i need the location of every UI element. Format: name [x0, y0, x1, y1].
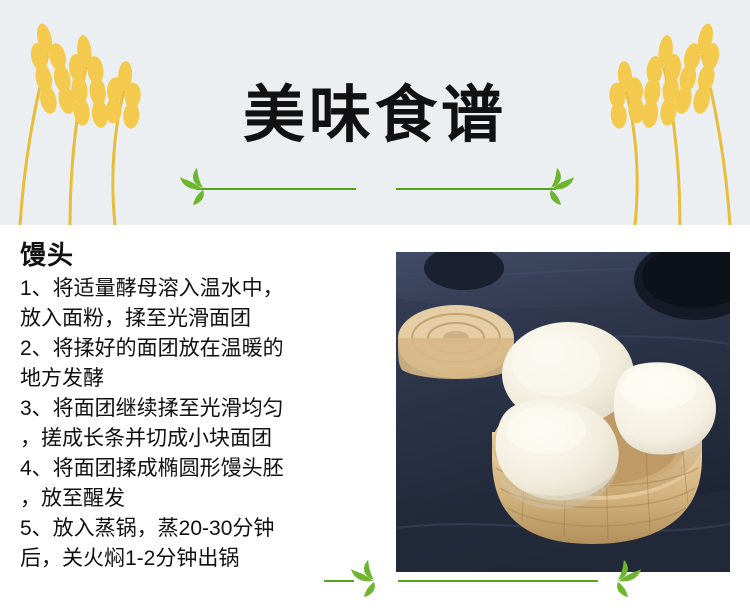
recipe-photo — [396, 252, 730, 572]
recipe-step: 4、将面团揉成椭圆形馒头胚 ，放至醒发 — [20, 454, 380, 514]
divider-top — [0, 168, 750, 208]
leaf-ornament-left — [178, 168, 228, 208]
leaf-ornament-bottom-left — [348, 560, 400, 600]
recipe-page: 美味食谱 馒头 1、将适量酵母溶入温水中， 放入面粉，揉至光滑面团 2、将揉好的… — [0, 0, 750, 615]
divider-bottom-line-right — [398, 580, 598, 582]
recipe-step: 1、将适量酵母溶入温水中， 放入面粉，揉至光滑面团 — [20, 274, 380, 334]
recipe-step: 3、将面团继续揉至光滑均匀 ，搓成长条并切成小块面团 — [20, 394, 380, 454]
divider-bottom — [0, 560, 750, 600]
page-title: 美味食谱 — [0, 78, 750, 154]
recipe-text-block: 馒头 1、将适量酵母溶入温水中， 放入面粉，揉至光滑面团 2、将揉好的面团放在温… — [20, 238, 380, 574]
steamer-lid — [398, 305, 514, 379]
recipe-step: 2、将揉好的面团放在温暖的 地方发酵 — [20, 334, 380, 394]
leaf-ornament-bottom-right — [592, 560, 644, 600]
recipe-title: 馒头 — [20, 238, 380, 272]
leaf-ornament-right — [526, 168, 576, 208]
